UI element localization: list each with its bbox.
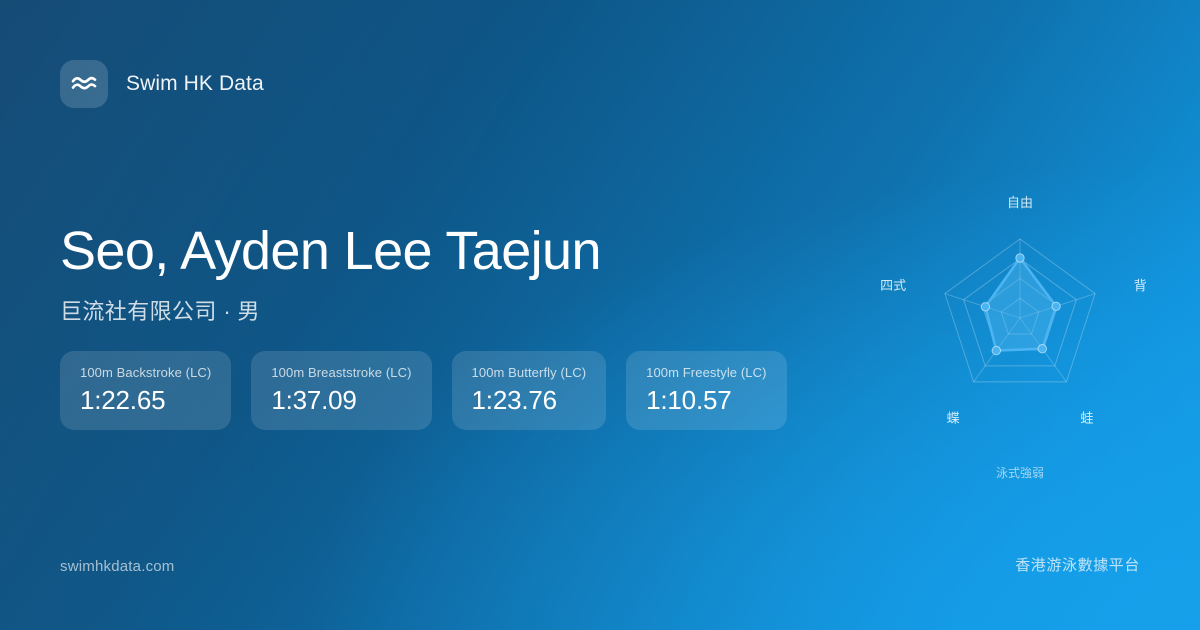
brand-name: Swim HK Data xyxy=(126,72,264,96)
stat-card-freestyle: 100m Freestyle (LC) 1:10.57 xyxy=(626,351,786,430)
radar-label-breaststroke: 蛙 xyxy=(1080,411,1093,426)
radar-data-area xyxy=(985,258,1056,351)
footer-tagline: 香港游泳數據平台 xyxy=(1015,554,1140,575)
footer-site-url: swimhkdata.com xyxy=(60,558,175,575)
radar-data-point xyxy=(1038,345,1046,353)
stat-value: 1:37.09 xyxy=(271,385,411,416)
radar-data-point xyxy=(1016,254,1024,262)
stat-label: 100m Breaststroke (LC) xyxy=(271,365,411,380)
stat-label: 100m Butterfly (LC) xyxy=(472,365,587,380)
stat-value: 1:10.57 xyxy=(646,385,766,416)
athlete-subtitle: 巨流社有限公司 · 男 xyxy=(60,294,860,326)
radar-data-point xyxy=(981,303,989,311)
stat-label: 100m Freestyle (LC) xyxy=(646,365,766,380)
hero-block: Seo, Ayden Lee Taejun 巨流社有限公司 · 男 xyxy=(60,222,860,326)
stat-card-backstroke: 100m Backstroke (LC) 1:22.65 xyxy=(60,351,231,430)
radar-label-medley: 四式 xyxy=(880,278,906,293)
stat-card-breaststroke: 100m Breaststroke (LC) 1:37.09 xyxy=(251,351,431,430)
radar-data-point xyxy=(992,346,1000,354)
brand-header: Swim HK Data xyxy=(60,60,264,108)
radar-label-butterfly: 蝶 xyxy=(947,411,960,426)
stroke-strength-radar-chart: 自由 背 蛙 蝶 四式 泳式強弱 xyxy=(865,165,1175,475)
stat-card-list: 100m Backstroke (LC) 1:22.65 100m Breast… xyxy=(60,351,787,430)
stat-value: 1:23.76 xyxy=(472,385,587,416)
radar-caption: 泳式強弱 xyxy=(996,466,1044,480)
wave-icon xyxy=(60,60,108,108)
page-title: Seo, Ayden Lee Taejun xyxy=(60,222,860,280)
radar-label-backstroke: 背 xyxy=(1134,278,1147,293)
radar-data-point xyxy=(1052,302,1060,310)
radar-label-freestyle: 自由 xyxy=(1007,195,1033,210)
stat-label: 100m Backstroke (LC) xyxy=(80,365,211,380)
stat-card-butterfly: 100m Butterfly (LC) 1:23.76 xyxy=(452,351,607,430)
stat-value: 1:22.65 xyxy=(80,385,211,416)
